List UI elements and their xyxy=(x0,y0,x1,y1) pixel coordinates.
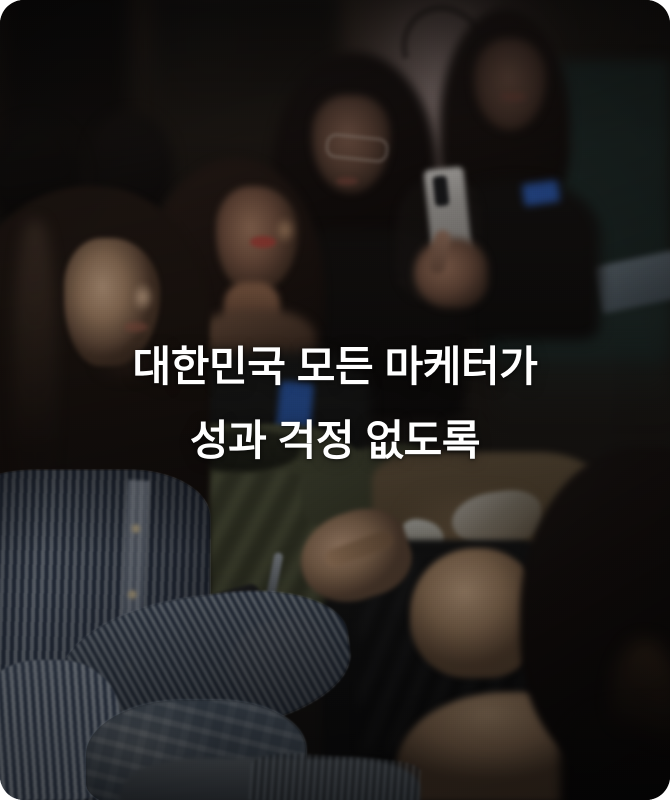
smartphone-camera-module xyxy=(432,175,449,206)
shirt-button xyxy=(128,590,137,599)
person-mid-nose xyxy=(276,216,298,244)
person-mid-lips xyxy=(250,236,276,248)
person-back-right-smile xyxy=(500,92,526,101)
foreground-woman-nose xyxy=(134,282,158,312)
hero-banner: 대한민국 모든 마케터가 성과 걱정 없도록 xyxy=(0,0,670,800)
event-audience-photo xyxy=(0,0,670,800)
foreground-woman-chin-shadow xyxy=(92,350,162,386)
person-with-glasses-lips xyxy=(336,177,358,185)
shirt-button xyxy=(131,524,140,533)
foreground-woman-lips xyxy=(124,322,148,332)
hand-holding-phone xyxy=(414,238,488,308)
